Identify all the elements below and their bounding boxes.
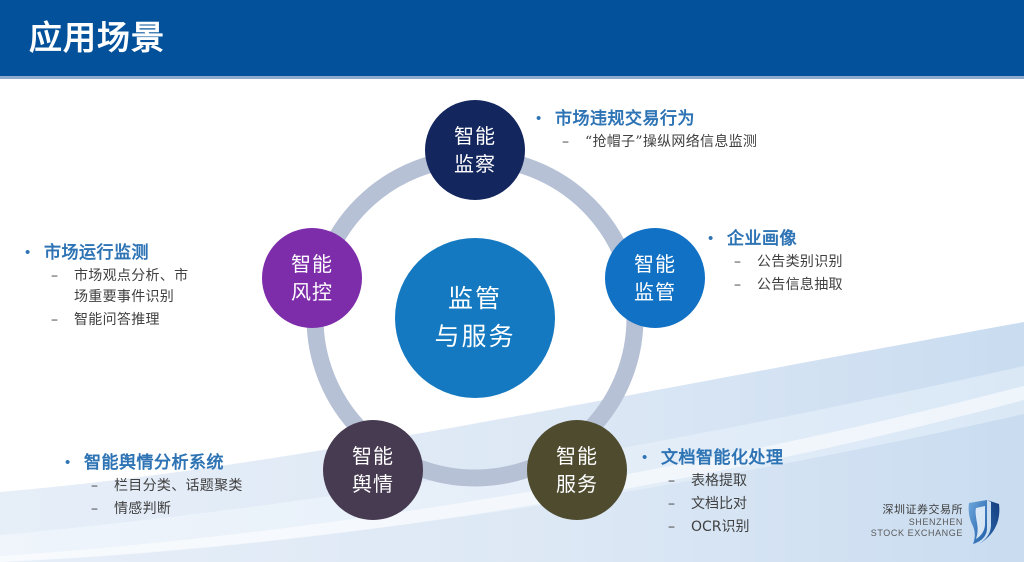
callout-item: – 文档比对 (661, 494, 784, 515)
callout-heading: 智能舆情分析系统 (84, 452, 224, 474)
logo-mark-icon (967, 500, 1001, 544)
callout-public-opinion-system: • 智能舆情分析系统 – 栏目分类、话题聚类 – 情感判断 (62, 452, 243, 520)
node-left-label-2: 风控 (291, 278, 333, 306)
logo-chinese-name: 深圳证券交易所 (855, 502, 963, 517)
callout-heading: 市场违规交易行为 (555, 108, 695, 130)
dash-icon: – (727, 252, 757, 273)
logo-english-line-1: SHENZHEN (855, 517, 963, 528)
slide-canvas: 应用场景 监管 与服务 智能 监察 智能 监管 智能 服务 智能 舆情 智能 风… (0, 0, 1024, 562)
bullet-icon: • (705, 228, 727, 250)
callout-item-text: 公告类别识别 (757, 252, 843, 273)
logo-english-line-2: STOCK EXCHANGE (855, 528, 963, 539)
node-bottom-right-label-1: 智能 (556, 442, 598, 470)
callout-heading-row: • 市场违规交易行为 (533, 108, 757, 130)
node-intelligent-public-opinion[interactable]: 智能 舆情 (323, 420, 423, 520)
callout-market-violation: • 市场违规交易行为 – “抢帽子”操纵网络信息监测 (533, 108, 757, 153)
node-center-label-2: 与服务 (434, 318, 515, 356)
bullet-icon: • (533, 108, 555, 130)
callout-items: – 栏目分类、话题聚类 – 情感判断 (62, 476, 243, 520)
bullet-icon: • (22, 242, 44, 264)
dash-icon: – (661, 494, 691, 515)
callout-heading: 市场运行监测 (44, 242, 149, 264)
node-intelligent-regulation[interactable]: 智能 监管 (605, 228, 705, 328)
callout-item-text: 文档比对 (691, 494, 747, 515)
bullet-icon: • (639, 447, 661, 469)
dash-icon: – (84, 476, 114, 497)
node-bottom-right-label-2: 服务 (556, 470, 598, 498)
node-intelligent-supervision-inspect[interactable]: 智能 监察 (425, 100, 525, 200)
logo-text-block: 深圳证券交易所 SHENZHEN STOCK EXCHANGE (855, 502, 963, 539)
callout-item: – “抢帽子”操纵网络信息监测 (555, 132, 757, 153)
bullet-icon: • (62, 452, 84, 474)
dash-icon: – (84, 499, 114, 520)
dash-icon: – (44, 310, 74, 331)
callout-item: – 市场观点分析、市场重要事件识别 (44, 266, 192, 308)
dash-icon: – (555, 132, 585, 153)
callout-item-text: “抢帽子”操纵网络信息监测 (585, 132, 757, 153)
node-center-label-1: 监管 (448, 280, 502, 318)
node-intelligent-service[interactable]: 智能 服务 (527, 420, 627, 520)
callout-market-monitoring: • 市场运行监测 – 市场观点分析、市场重要事件识别 – 智能问答推理 (22, 242, 192, 331)
callout-item: – 栏目分类、话题聚类 (84, 476, 243, 497)
node-bottom-left-label-1: 智能 (352, 442, 394, 470)
dash-icon: – (44, 266, 74, 287)
callout-item-text: 智能问答推理 (74, 310, 160, 331)
callout-items: – 公告类别识别 – 公告信息抽取 (705, 252, 843, 296)
szse-logo: 深圳证券交易所 SHENZHEN STOCK EXCHANGE (855, 500, 1005, 552)
callout-items: – “抢帽子”操纵网络信息监测 (533, 132, 757, 153)
callout-item-text: 情感判断 (114, 499, 171, 520)
callout-items: – 表格提取 – 文档比对 – OCR识别 (639, 471, 784, 538)
node-center-regulation-service[interactable]: 监管 与服务 (395, 238, 555, 398)
callout-item: – 公告类别识别 (727, 252, 843, 273)
node-intelligent-risk-control[interactable]: 智能 风控 (262, 228, 362, 328)
callout-item: – 表格提取 (661, 471, 784, 492)
callout-item-text: OCR识别 (691, 517, 750, 538)
callout-item-text: 表格提取 (691, 471, 747, 492)
node-left-label-1: 智能 (291, 250, 333, 278)
callout-heading: 文档智能化处理 (661, 447, 784, 469)
node-right-label-1: 智能 (634, 250, 676, 278)
callout-heading-row: • 文档智能化处理 (639, 447, 784, 469)
dash-icon: – (661, 517, 691, 538)
callout-item-text: 公告信息抽取 (757, 275, 843, 296)
callout-item: – 智能问答推理 (44, 310, 192, 331)
callout-item: – 公告信息抽取 (727, 275, 843, 296)
callout-item: – OCR识别 (661, 517, 784, 538)
callout-heading: 企业画像 (727, 228, 797, 250)
callout-item: – 情感判断 (84, 499, 243, 520)
node-bottom-left-label-2: 舆情 (352, 470, 394, 498)
dash-icon: – (727, 275, 757, 296)
callout-heading-row: • 智能舆情分析系统 (62, 452, 243, 474)
dash-icon: – (661, 471, 691, 492)
callout-document-intelligence: • 文档智能化处理 – 表格提取 – 文档比对 – OCR识别 (639, 447, 784, 538)
callout-enterprise-profile: • 企业画像 – 公告类别识别 – 公告信息抽取 (705, 228, 843, 296)
callout-items: – 市场观点分析、市场重要事件识别 – 智能问答推理 (22, 266, 192, 331)
callout-item-text: 栏目分类、话题聚类 (114, 476, 243, 497)
callout-item-text: 市场观点分析、市场重要事件识别 (74, 266, 192, 308)
callout-heading-row: • 企业画像 (705, 228, 843, 250)
node-top-label-2: 监察 (454, 150, 496, 178)
callout-heading-row: • 市场运行监测 (22, 242, 192, 264)
node-top-label-1: 智能 (454, 122, 496, 150)
node-right-label-2: 监管 (634, 278, 676, 306)
